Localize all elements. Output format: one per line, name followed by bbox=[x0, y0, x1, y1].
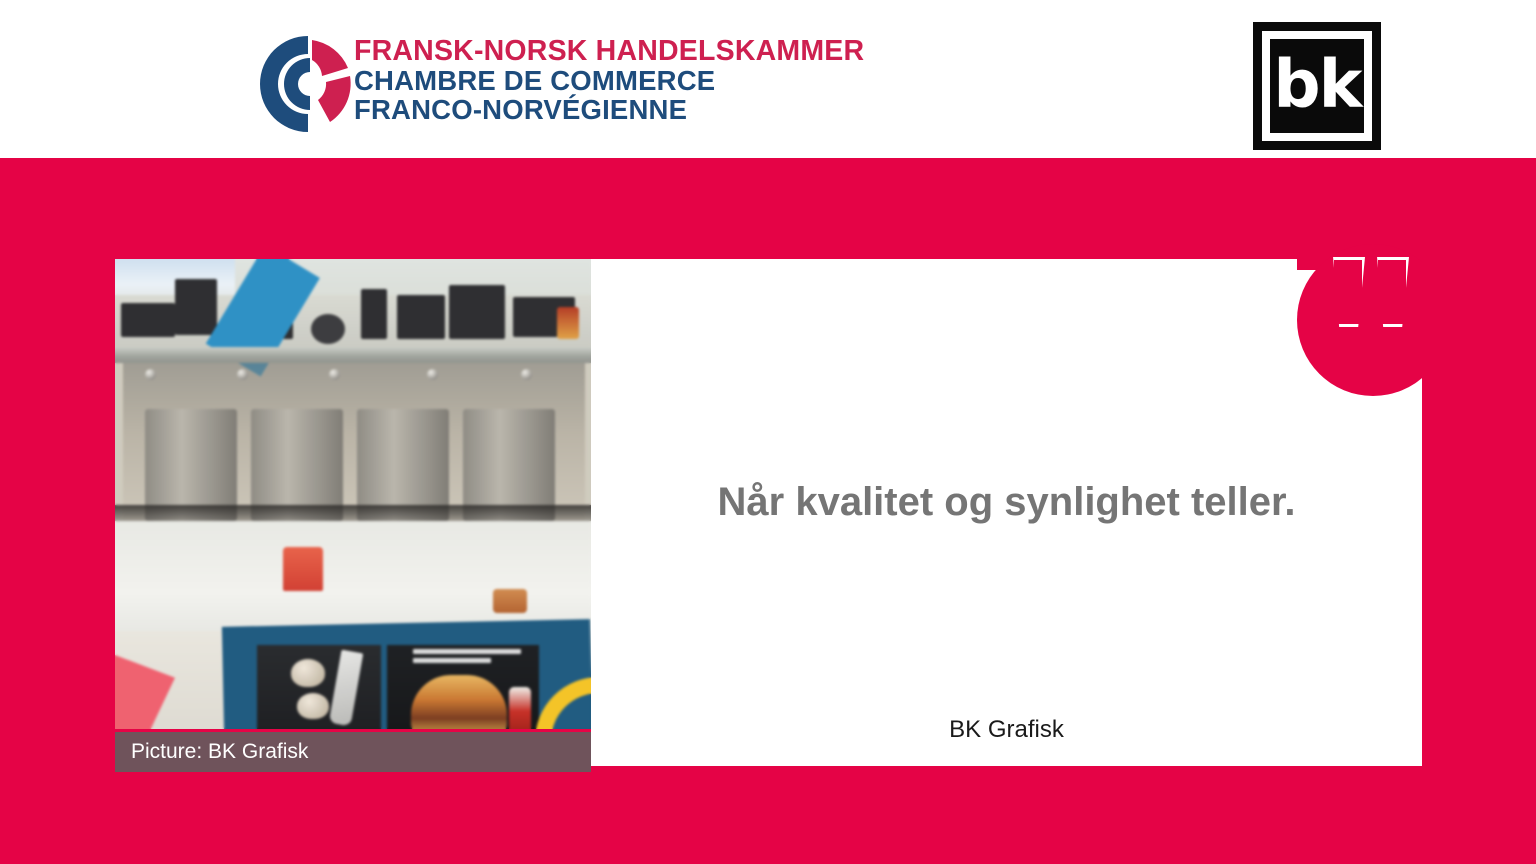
quote-stroke-right bbox=[1375, 257, 1409, 327]
photo-brochure-headline bbox=[413, 649, 521, 667]
photo-machine-part bbox=[397, 295, 445, 339]
notch-right-filler bbox=[1422, 244, 1536, 404]
photo-caption: Picture: BK Grafisk bbox=[115, 732, 591, 772]
photo-machine-part bbox=[121, 303, 175, 337]
photo-orange-indicator bbox=[557, 307, 579, 339]
photo-food-item bbox=[297, 693, 329, 719]
photo-bolt bbox=[329, 369, 340, 380]
bk-grafisk-logo: bk bbox=[1253, 22, 1381, 150]
slide-canvas: FRANSK-NORSK HANDELSKAMMER CHAMBRE DE CO… bbox=[0, 0, 1536, 864]
photo-sauce-bottle bbox=[509, 687, 531, 729]
quote-stroke-left bbox=[1331, 257, 1365, 327]
photo-bolt bbox=[521, 369, 532, 380]
photo-machine-part bbox=[175, 279, 217, 335]
photo-paper-roll bbox=[493, 589, 527, 613]
cci-double-c-mark bbox=[258, 34, 358, 134]
chamber-logo-line-2: CHAMBRE DE COMMERCE bbox=[354, 66, 804, 95]
bk-logo-text: bk bbox=[1270, 52, 1364, 118]
photo-bolt bbox=[237, 369, 248, 380]
quote-mark-icon bbox=[1331, 257, 1427, 329]
photo-food-item bbox=[291, 659, 325, 687]
chamber-logo-line-3: FRANCO-NORVÉGIENNE bbox=[354, 95, 804, 124]
photo-red-element bbox=[283, 547, 323, 591]
slide-attribution: BK Grafisk bbox=[591, 716, 1422, 745]
bk-logo-border: bk bbox=[1262, 31, 1372, 141]
photo-bolt bbox=[427, 369, 438, 380]
bk-logo-inner-square: bk bbox=[1270, 39, 1364, 133]
slide-title: Når kvalitet og synlighet teller. bbox=[591, 478, 1422, 526]
chamber-of-commerce-logo: FRANSK-NORSK HANDELSKAMMER CHAMBRE DE CO… bbox=[258, 30, 798, 138]
photo-bolt bbox=[145, 369, 156, 380]
photo-steel-bar bbox=[115, 347, 591, 363]
chamber-logo-text: FRANSK-NORSK HANDELSKAMMER CHAMBRE DE CO… bbox=[354, 36, 804, 124]
press-machine-photo bbox=[115, 259, 591, 729]
photo-control-knob bbox=[311, 314, 345, 344]
photo-machine-part bbox=[449, 285, 505, 339]
chamber-logo-line-1: FRANSK-NORSK HANDELSKAMMER bbox=[354, 36, 804, 66]
photo-machine-part bbox=[361, 289, 387, 339]
